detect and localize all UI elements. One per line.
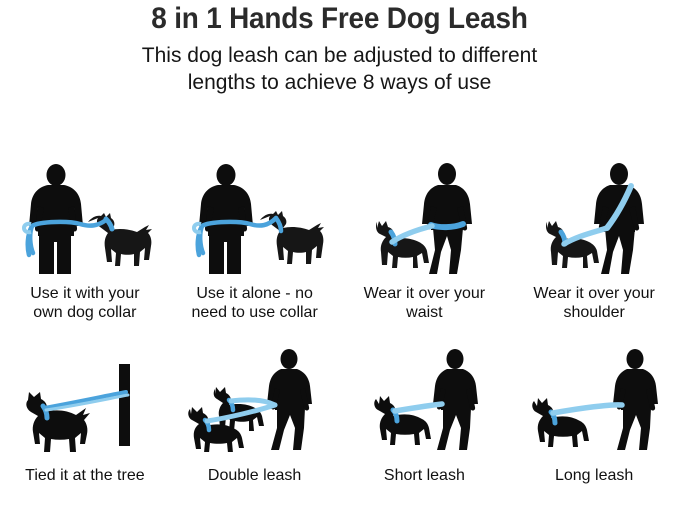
person-standing-dog-no-collar-icon xyxy=(180,160,330,278)
person-walking-dog-short-leash-icon xyxy=(349,340,499,452)
person-walking-shoulder-sash-dog-icon xyxy=(519,160,669,278)
usage-row-2: Tied it at the tree xyxy=(0,340,679,520)
panel-caption: Wear it over your waist xyxy=(360,284,490,322)
caption-line-1: Long leash xyxy=(555,466,633,485)
panel-caption: Double leash xyxy=(204,466,305,485)
page-subtitle: This dog leash can be adjusted to differ… xyxy=(0,42,679,96)
panel-double-leash: Double leash xyxy=(170,340,340,520)
caption-line-2: waist xyxy=(364,303,486,322)
person-walking-waist-belt-dog-icon xyxy=(349,160,499,278)
dog-tied-to-post-icon xyxy=(10,340,160,452)
panel-wear-over-waist: Wear it over your waist xyxy=(340,160,510,340)
panel-use-with-own-collar: Use it with your own dog collar xyxy=(0,160,170,340)
caption-line-1: Use it alone - no xyxy=(191,284,317,303)
panel-short-leash: Short leash xyxy=(340,340,510,520)
panel-caption: Tied it at the tree xyxy=(21,466,148,485)
person-walking-dog-long-leash-icon xyxy=(517,340,672,452)
panel-tied-at-tree: Tied it at the tree xyxy=(0,340,170,520)
panel-wear-over-shoulder: Wear it over your shoulder xyxy=(509,160,679,340)
panel-caption: Long leash xyxy=(551,466,637,485)
caption-line-2: need to use collar xyxy=(191,303,317,322)
caption-line-1: Wear it over your xyxy=(533,284,655,303)
usage-row-1: Use it with your own dog collar xyxy=(0,160,679,340)
caption-line-1: Use it with your xyxy=(30,284,139,303)
person-walking-two-dogs-icon xyxy=(177,340,332,452)
panel-caption: Wear it over your shoulder xyxy=(529,284,659,322)
caption-line-2: shoulder xyxy=(533,303,655,322)
subtitle-line-2: lengths to achieve 8 ways of use xyxy=(70,69,609,96)
panel-caption: Use it alone - no need to use collar xyxy=(187,284,321,322)
subtitle-line-1: This dog leash can be adjusted to differ… xyxy=(70,42,609,69)
caption-line-1: Wear it over your xyxy=(364,284,486,303)
header: 8 in 1 Hands Free Dog Leash This dog lea… xyxy=(0,0,679,96)
panel-caption: Use it with your own dog collar xyxy=(26,284,143,322)
person-standing-with-dog-collar-icon xyxy=(10,160,160,278)
page-title: 8 in 1 Hands Free Dog Leash xyxy=(24,3,655,35)
panel-caption: Short leash xyxy=(380,466,469,485)
panel-use-alone-no-collar: Use it alone - no need to use collar xyxy=(170,160,340,340)
caption-line-1: Tied it at the tree xyxy=(25,466,144,485)
panel-long-leash: Long leash xyxy=(509,340,679,520)
caption-line-1: Short leash xyxy=(384,466,465,485)
caption-line-1: Double leash xyxy=(208,466,301,485)
usage-grid: Use it with your own dog collar xyxy=(0,160,679,520)
caption-line-2: own dog collar xyxy=(30,303,139,322)
